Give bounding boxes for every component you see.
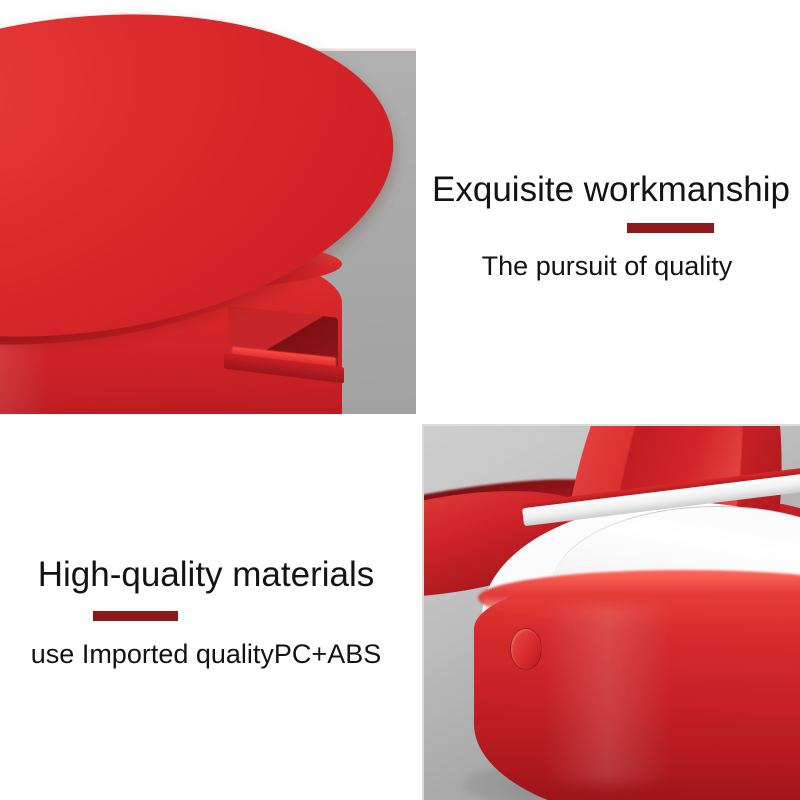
top-right-subline: The pursuit of quality	[420, 250, 794, 282]
top-right-accent-rule	[627, 223, 714, 233]
bottom-left-accent-rule	[93, 611, 178, 621]
text-panel-bottom-left: High-quality materials use Imported qual…	[0, 414, 416, 800]
product-photo-top-left: red compact mirror with lid open showing…	[0, 0, 416, 414]
text-panel-top-right: Exquisite workmanship The pursuit of qua…	[416, 0, 800, 414]
release-button	[510, 628, 542, 670]
top-right-headline: Exquisite workmanship	[420, 170, 800, 210]
product-photo-bottom-right: close-up of red compact mirror base, whi…	[422, 424, 800, 800]
bottom-left-headline: High-quality materials	[0, 555, 412, 595]
base-side-sheen	[542, 604, 672, 784]
product-feature-banner: red compact mirror with lid open showing…	[0, 0, 800, 800]
bottom-left-subline: use Imported qualityPC+ABS	[0, 638, 412, 670]
photo-border-left	[422, 424, 424, 800]
photo-border-top	[422, 424, 800, 426]
